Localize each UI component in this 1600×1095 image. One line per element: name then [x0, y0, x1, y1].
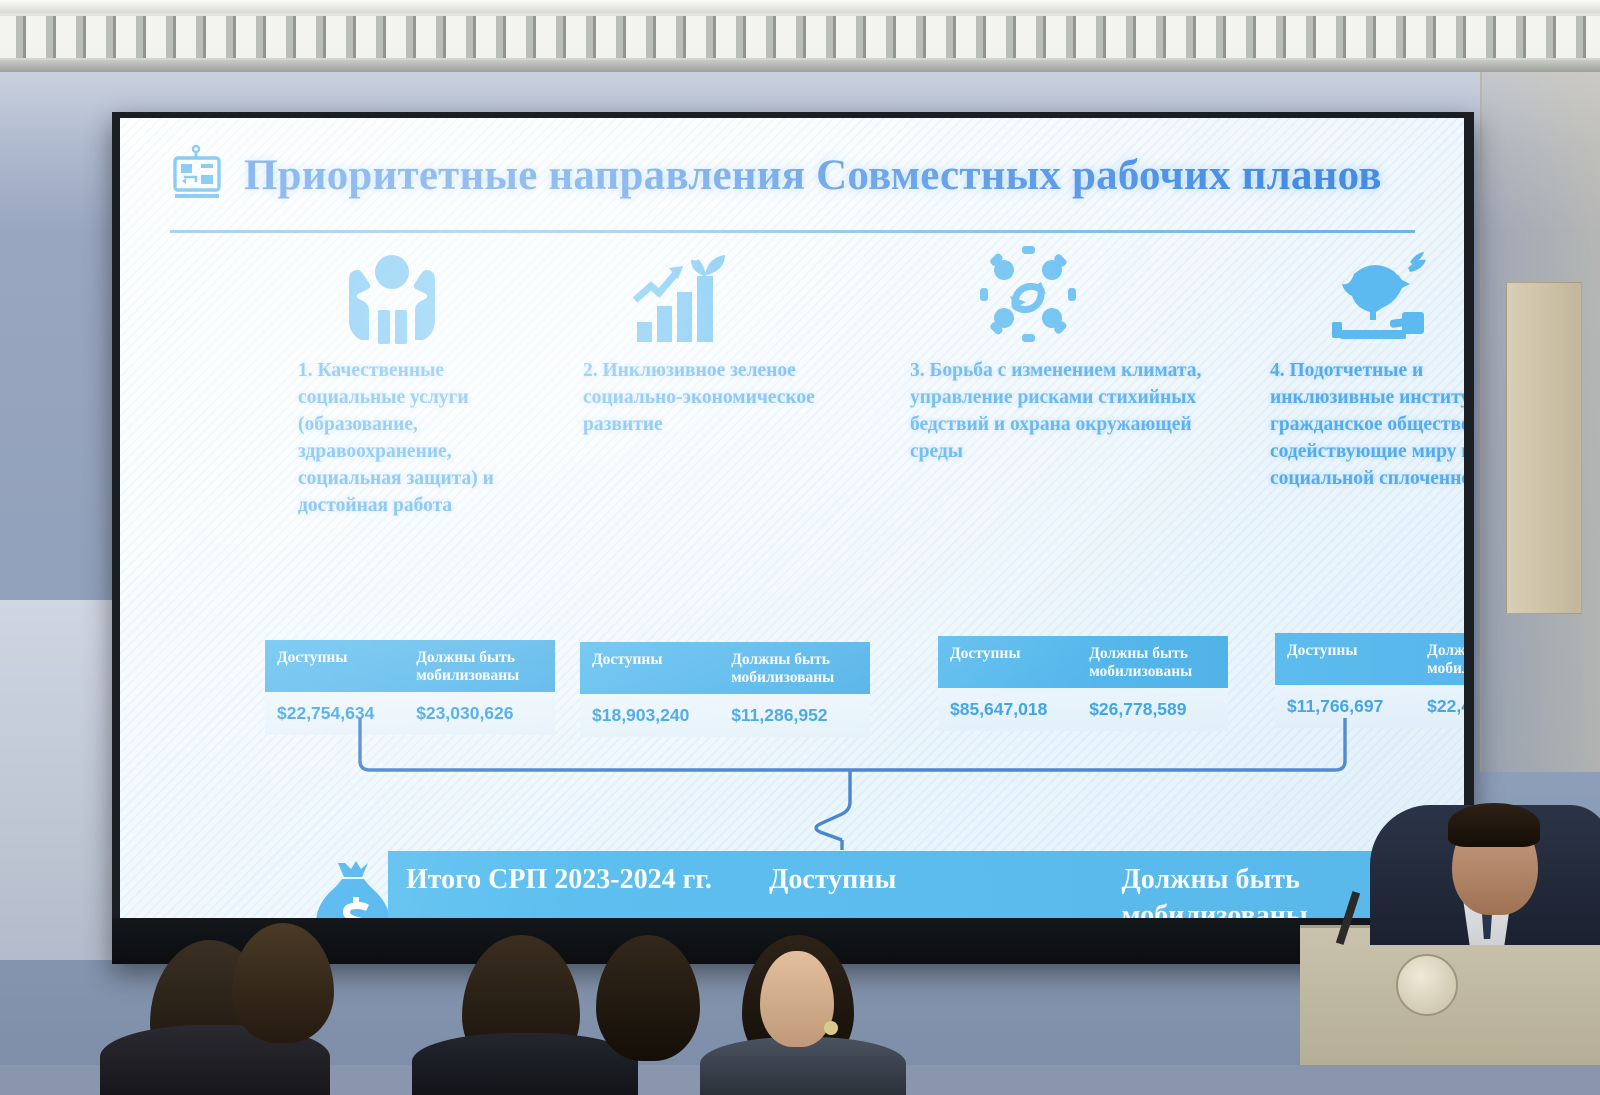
- audience-shoulders-3: [412, 1033, 638, 1095]
- cornice-rail-top: [0, 0, 1600, 13]
- cornice-rail-bottom: [0, 60, 1600, 72]
- dove-gavel-icon: [1320, 244, 1428, 344]
- workflow-diagram-icon: [168, 144, 228, 206]
- funding-table-4-to-mobilize-value: $22,472,707: [1415, 696, 1464, 717]
- funding-table-2-to-mobilize-value: $11,286,952: [719, 705, 870, 726]
- funding-table-4: Доступны Должны быть мобилизованы $11,76…: [1275, 633, 1464, 728]
- funding-table-1-available-value: $22,754,634: [265, 703, 404, 724]
- funding-table-1-row: $22,754,634 $23,030,626: [265, 692, 555, 735]
- hands-holding-person-icon: [340, 248, 444, 344]
- priority-4-icon-wrap: [1270, 236, 1464, 344]
- wall-panel-left: [0, 600, 118, 960]
- funding-table-1-header-available: Доступны: [265, 640, 404, 692]
- audience-earring-5: [824, 1021, 838, 1035]
- total-panel: Итого СРП 2023-2024 гг. Доступны Должны …: [388, 851, 1456, 918]
- priority-3-text: 3. Борьба с изменением климата, управлен…: [910, 358, 1210, 466]
- podium-emblem: [1396, 954, 1458, 1016]
- page-title: Приоритетные направления Совместных рабо…: [244, 151, 1382, 200]
- speaker-podium: [1300, 925, 1600, 1065]
- slide-title-row: Приоритетные направления Совместных рабо…: [168, 144, 1382, 206]
- priority-columns: 1. Качественные социальные услуги (образ…: [120, 236, 1464, 536]
- funding-table-1-header: Доступны Должны быть мобилизованы: [265, 640, 555, 692]
- funding-table-2-row: $18,903,240 $11,286,952: [580, 694, 870, 737]
- funding-table-4-header: Доступны Должны быть мобилизованы: [1275, 633, 1464, 685]
- speaker-hair: [1448, 803, 1540, 847]
- funding-table-4-available-value: $11,766,697: [1275, 696, 1415, 717]
- audience-face-5: [760, 951, 834, 1047]
- money-bag-icon: [316, 855, 390, 918]
- title-divider: [170, 230, 1415, 233]
- projection-screen: Приоритетные направления Совместных рабо…: [112, 112, 1474, 964]
- funding-table-2-header: Доступны Должны быть мобилизованы: [580, 642, 870, 694]
- priority-column-2: 2. Инклюзивное зеленое социально-экономи…: [583, 236, 835, 439]
- climate-cycle-icon: [978, 244, 1078, 344]
- total-label: Итого СРП 2023-2024 гг.: [388, 851, 751, 918]
- priority-3-icon-wrap: [910, 236, 1210, 344]
- priority-1-text: 1. Качественные социальные услуги (образ…: [298, 358, 548, 519]
- funding-table-3-row: $85,647,018 $26,778,589: [938, 688, 1228, 731]
- funding-table-3-to-mobilize-value: $26,778,589: [1077, 699, 1228, 720]
- funding-table-1: Доступны Должны быть мобилизованы $22,75…: [265, 640, 555, 735]
- funding-table-3-available-value: $85,647,018: [938, 699, 1077, 720]
- cornice-dentil-molding: [0, 16, 1600, 58]
- wall-pillar-right: [1480, 72, 1600, 772]
- ceiling-cornice: [0, 0, 1600, 72]
- funding-table-2: Доступны Должны быть мобилизованы $18,90…: [580, 642, 870, 737]
- priority-2-text: 2. Инклюзивное зеленое социально-экономи…: [583, 358, 835, 439]
- funding-table-4-header-to-mobilize: Должны быть мобилизованы: [1415, 633, 1464, 685]
- priority-column-4: 4. Подотчетные и инклюзивные институты и…: [1270, 236, 1464, 493]
- funding-table-2-header-available: Доступны: [580, 642, 719, 694]
- funding-table-1-header-to-mobilize: Должны быть мобилизованы: [404, 640, 555, 692]
- priority-1-icon-wrap: [298, 236, 548, 344]
- growth-chart-plant-icon: [625, 244, 727, 344]
- funding-table-3-header-to-mobilize: Должны быть мобилизованы: [1077, 636, 1228, 688]
- total-header-available: Доступны: [751, 851, 1103, 918]
- presentation-slide: Приоритетные направления Совместных рабо…: [120, 118, 1464, 918]
- total-panel-header: Итого СРП 2023-2024 гг. Доступны Должны …: [388, 851, 1456, 918]
- funding-table-4-row: $11,766,697 $22,472,707: [1275, 685, 1464, 728]
- funding-table-3-header: Доступны Должны быть мобилизованы: [938, 636, 1228, 688]
- funding-table-4-header-available: Доступны: [1275, 633, 1415, 685]
- priority-4-text: 4. Подотчетные и инклюзивные институты и…: [1270, 358, 1464, 493]
- funding-table-2-header-to-mobilize: Должны быть мобилизованы: [719, 642, 870, 694]
- priority-2-icon-wrap: [583, 236, 835, 344]
- priority-column-1: 1. Качественные социальные услуги (образ…: [298, 236, 548, 519]
- funding-table-1-to-mobilize-value: $23,030,626: [404, 703, 555, 724]
- funding-table-3: Доступны Должны быть мобилизованы $85,64…: [938, 636, 1228, 731]
- funding-table-2-available-value: $18,903,240: [580, 705, 719, 726]
- funding-table-3-header-available: Доступны: [938, 636, 1077, 688]
- priority-column-3: 3. Борьба с изменением климата, управлен…: [910, 236, 1210, 466]
